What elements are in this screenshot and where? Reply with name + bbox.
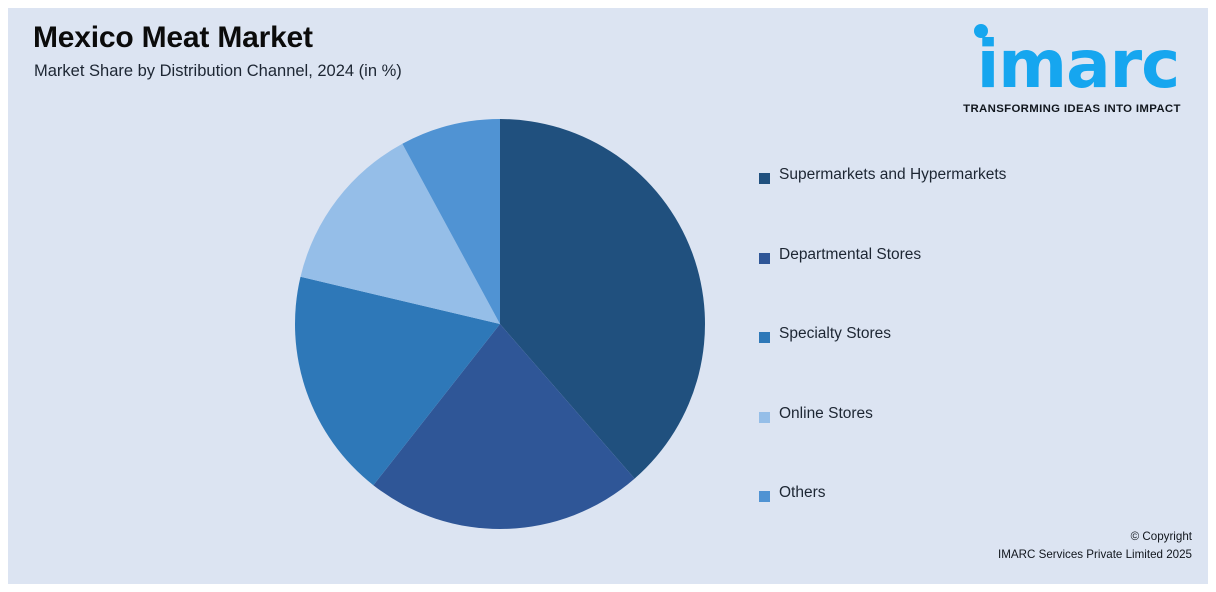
logo-wordmark: imarc <box>964 32 1192 98</box>
copyright-symbol-line: © Copyright <box>998 528 1192 546</box>
legend-item-label: Online Stores <box>779 405 873 423</box>
imarc-logo: imarc TRANSFORMING IDEAS INTO IMPACT <box>952 20 1192 116</box>
legend-item[interactable]: Supermarkets and Hypermarkets <box>753 163 1173 243</box>
legend-color-swatch <box>759 173 770 184</box>
legend-color-swatch <box>759 253 770 264</box>
legend-color-swatch <box>759 491 770 502</box>
legend-item[interactable]: Departmental Stores <box>753 243 1173 323</box>
copyright-notice: © Copyright IMARC Services Private Limit… <box>998 528 1192 564</box>
pie-chart <box>287 111 713 537</box>
legend-color-swatch <box>759 412 770 423</box>
legend-color-swatch <box>759 332 770 343</box>
legend-item-label: Others <box>779 484 826 502</box>
copyright-company-line: IMARC Services Private Limited 2025 <box>998 546 1192 564</box>
legend-item[interactable]: Online Stores <box>753 402 1173 482</box>
chart-legend: Supermarkets and HypermarketsDepartmenta… <box>753 163 1173 561</box>
legend-item-label: Supermarkets and Hypermarkets <box>779 166 1006 184</box>
legend-item[interactable]: Specialty Stores <box>753 322 1173 402</box>
legend-item-label: Departmental Stores <box>779 246 921 264</box>
infographic-canvas: Mexico Meat Market Market Share by Distr… <box>8 8 1208 584</box>
logo-tagline: TRANSFORMING IDEAS INTO IMPACT <box>952 103 1192 115</box>
chart-subtitle: Market Share by Distribution Channel, 20… <box>34 62 402 81</box>
legend-item-label: Specialty Stores <box>779 325 891 343</box>
page-title: Mexico Meat Market <box>33 21 313 55</box>
